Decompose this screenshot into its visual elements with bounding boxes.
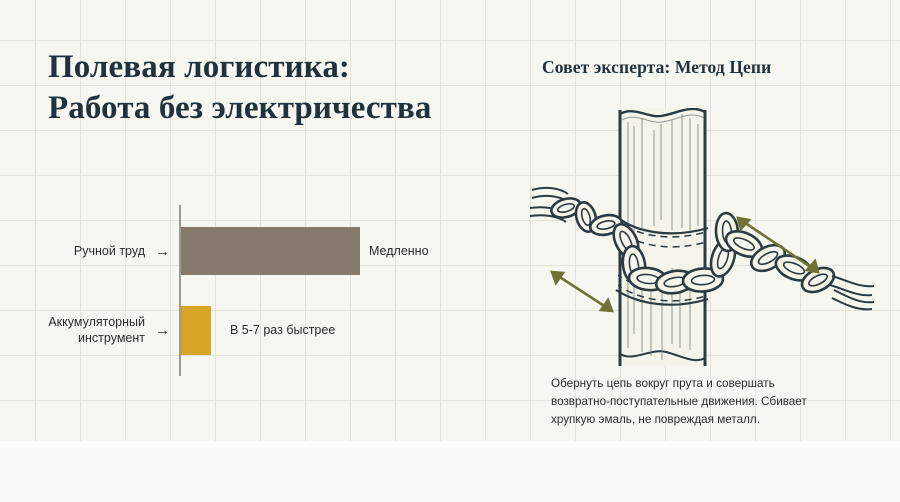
pointer-arrow-icon-manual: → [155,244,170,259]
motion-arrow-left [552,272,612,311]
expert-tip-heading: Совет эксперта: Метод Цепи [542,57,771,78]
expert-tip-caption: Обернуть цепь вокруг прута и совершать в… [551,375,851,429]
bar-category-label-manual: Ручной труд [20,244,145,260]
expert-tip-caption-line-2: возвратно-поступательные движения. Сбива… [551,393,851,411]
chain-around-rod-illustration [530,108,875,366]
bar-value-label-power-tool: В 5-7 раз быстрее [230,323,335,337]
expert-tip-caption-line-3: хрупкую эмаль, не повреждая металл. [551,411,851,429]
slide-canvas: Полевая логистика: Работа без электричес… [0,0,900,502]
pointer-arrow-icon-power-tool: → [155,323,170,338]
bar-category-label-manual-line-1: Ручной труд [74,244,145,258]
bar-value-label-manual: Медленно [369,244,429,258]
bar-category-label-power-tool: Аккумуляторный инструмент [10,315,145,346]
bar-category-label-power-tool-line-1: Аккумуляторный [48,315,145,329]
bar-manual [181,227,360,275]
bar-power-tool [181,306,211,355]
bar-category-label-power-tool-line-2: инструмент [10,331,145,347]
comparison-bar-chart: Ручной труд → Медленно Аккумуляторный ин… [0,0,520,441]
expert-tip-caption-line-1: Обернуть цепь вокруг прута и совершать [551,375,851,393]
bottom-blank-band [0,441,900,502]
